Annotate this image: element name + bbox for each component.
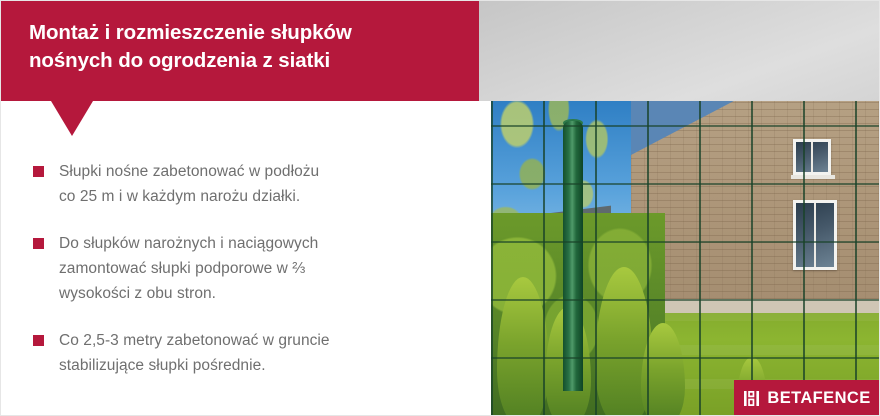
betafence-logo: BETAFENCE (734, 380, 880, 416)
wire-mesh-fence (491, 101, 880, 416)
bullet-list: Słupki nośne zabetonować w podłożu co 25… (1, 159, 479, 400)
fence-photo: BETAFENCE (491, 101, 880, 416)
list-item-text: Do słupków narożnych i naciągowych zamon… (59, 231, 479, 306)
list-item-line-1: Do słupków narożnych i naciągowych (59, 235, 318, 252)
list-item-line-1: Co 2,5-3 metry zabetonować w gruncie (59, 332, 330, 349)
bullet-square-icon (33, 166, 44, 177)
page-title-line-1: Montaż i rozmieszczenie słupków (29, 21, 352, 44)
bullet-square-icon (33, 238, 44, 249)
list-item-line-2: zamontować słupki podporowe w ⅔ (59, 260, 305, 277)
page-title-line-2: nośnych do ogrodzenia z siatki (29, 49, 330, 72)
betafence-wordmark: BETAFENCE (767, 389, 870, 408)
header-pointer-triangle (51, 101, 93, 136)
list-item-text: Słupki nośne zabetonować w podłożu co 25… (59, 159, 479, 209)
list-item-line-2: stabilizujące słupki pośrednie. (59, 357, 266, 374)
list-item-text: Co 2,5-3 metry zabetonować w gruncie sta… (59, 328, 479, 378)
list-item: Do słupków narożnych i naciągowych zamon… (1, 231, 479, 306)
list-item: Słupki nośne zabetonować w podłożu co 25… (1, 159, 479, 209)
gray-gradient-band (479, 1, 880, 101)
betafence-b-monogram-icon (744, 391, 759, 406)
infographic-banner: Montaż i rozmieszczenie słupków nośnych … (0, 0, 880, 416)
header-bar: Montaż i rozmieszczenie słupków nośnych … (1, 1, 479, 101)
bullet-square-icon (33, 335, 44, 346)
list-item-line-2: co 25 m i w każdym narożu działki. (59, 188, 300, 205)
page-title: Montaż i rozmieszczenie słupków nośnych … (29, 19, 455, 75)
list-item-line-3: wysokości z obu stron. (59, 285, 216, 302)
list-item: Co 2,5-3 metry zabetonować w gruncie sta… (1, 328, 479, 378)
list-item-line-1: Słupki nośne zabetonować w podłożu (59, 163, 319, 180)
